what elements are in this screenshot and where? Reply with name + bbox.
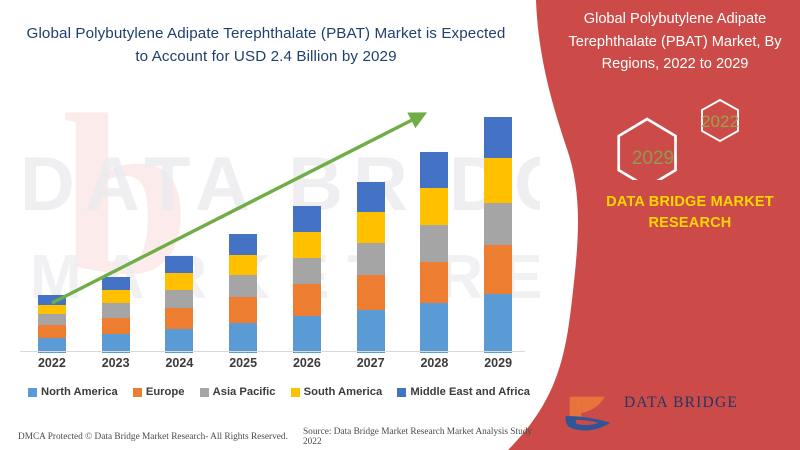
legend-item-4[interactable]: Middle East and Africa — [397, 386, 530, 398]
bar-segment-2027-0 — [357, 310, 385, 353]
bar-segment-2023-4 — [102, 277, 130, 290]
bar-2029 — [484, 117, 512, 353]
bar-segment-2027-2 — [357, 243, 385, 275]
bar-segment-2024-4 — [165, 256, 193, 273]
bar-2022 — [38, 295, 66, 353]
bar-segment-2028-1 — [420, 262, 448, 303]
legend-swatch-icon-2 — [200, 388, 209, 397]
legend-label-3: South America — [304, 386, 383, 398]
bar-segment-2027-1 — [357, 275, 385, 310]
bar-segment-2024-0 — [165, 329, 193, 353]
bar-segment-2025-0 — [229, 323, 257, 353]
data-bridge-logo: DATA BRIDGE MARKET RESEARCH — [562, 392, 742, 438]
bar-segment-2028-0 — [420, 303, 448, 353]
page-title: Global Polybutylene Adipate Terephthalat… — [26, 22, 506, 68]
bar-segment-2026-4 — [293, 206, 321, 232]
bar-segment-2022-4 — [38, 295, 66, 304]
logo-sub-text: MARKET RESEARCH — [624, 414, 764, 421]
bar-segment-2029-1 — [484, 245, 512, 293]
bar-2025 — [229, 234, 257, 353]
legend-label-4: Middle East and Africa — [410, 386, 530, 398]
footer-copyright: DMCA Protected © Data Bridge Market Rese… — [18, 432, 303, 442]
legend-swatch-icon-0 — [28, 388, 37, 397]
hexagon-2022-label: 2022 — [686, 112, 754, 132]
bar-segment-2025-4 — [229, 234, 257, 254]
bar-segment-2022-2 — [38, 314, 66, 325]
bar-2027 — [357, 182, 385, 353]
bar-segment-2028-4 — [420, 152, 448, 187]
bar-segment-2022-1 — [38, 325, 66, 338]
legend-item-0[interactable]: North America — [28, 386, 118, 398]
legend-swatch-icon-1 — [133, 388, 142, 397]
chart-legend: North AmericaEuropeAsia PacificSouth Ame… — [24, 386, 534, 398]
x-axis-label-2023: 2023 — [86, 356, 146, 370]
bar-segment-2025-1 — [229, 297, 257, 323]
legend-label-1: Europe — [146, 386, 185, 398]
legend-swatch-icon-4 — [397, 388, 406, 397]
bar-segment-2029-2 — [484, 203, 512, 246]
bar-segment-2029-4 — [484, 117, 512, 158]
infographic-canvas: b DATA BRIDGE MARKET RESEARCH Global Pol… — [0, 0, 800, 450]
bar-segment-2024-1 — [165, 308, 193, 328]
legend-swatch-icon-3 — [291, 388, 300, 397]
x-axis-label-2024: 2024 — [149, 356, 209, 370]
bar-segment-2026-0 — [293, 316, 321, 353]
bar-segment-2025-2 — [229, 275, 257, 297]
panel-brand-line-2: RESEARCH — [586, 213, 794, 234]
x-axis-label-2026: 2026 — [277, 356, 337, 370]
bar-segment-2026-2 — [293, 258, 321, 284]
panel-brand-name: DATA BRIDGE MARKET RESEARCH — [586, 192, 794, 233]
x-axis-label-2029: 2029 — [468, 356, 528, 370]
bar-segment-2029-3 — [484, 158, 512, 203]
hexagon-badges: 2029 2022 — [596, 92, 776, 180]
legend-item-1[interactable]: Europe — [133, 386, 185, 398]
bar-segment-2024-2 — [165, 290, 193, 309]
bar-2026 — [293, 206, 321, 353]
bar-segment-2029-0 — [484, 294, 512, 353]
data-bridge-logo-text: DATA BRIDGE MARKET RESEARCH — [624, 394, 764, 421]
bar-segment-2023-1 — [102, 318, 130, 335]
footer: DMCA Protected © Data Bridge Market Rese… — [18, 428, 538, 446]
bar-segment-2025-3 — [229, 255, 257, 275]
legend-label-0: North America — [41, 386, 118, 398]
legend-item-2[interactable]: Asia Pacific — [200, 386, 276, 398]
panel-brand-line-1: DATA BRIDGE MARKET — [586, 192, 794, 213]
legend-item-3[interactable]: South America — [291, 386, 383, 398]
x-axis-label-2025: 2025 — [213, 356, 273, 370]
bar-segment-2022-3 — [38, 305, 66, 314]
bar-segment-2024-3 — [165, 273, 193, 290]
bar-2024 — [165, 256, 193, 353]
bar-2023 — [102, 277, 130, 353]
bar-2028 — [420, 152, 448, 353]
footer-source: Source: Data Bridge Market Research Mark… — [303, 427, 538, 447]
bar-segment-2026-3 — [293, 232, 321, 258]
bar-segment-2027-3 — [357, 212, 385, 244]
chart-axis-line — [20, 351, 525, 352]
bar-segment-2028-2 — [420, 225, 448, 262]
stacked-bar-chart — [20, 95, 530, 353]
x-axis-label-2022: 2022 — [22, 356, 82, 370]
legend-label-2: Asia Pacific — [213, 386, 276, 398]
panel-title: Global Polybutylene Adipate Terephthalat… — [556, 8, 794, 76]
x-axis-label-2028: 2028 — [404, 356, 464, 370]
data-bridge-b-mark-icon — [562, 392, 620, 438]
x-axis-label-2027: 2027 — [341, 356, 401, 370]
bar-segment-2023-2 — [102, 303, 130, 318]
hexagon-2029-label: 2029 — [614, 148, 692, 170]
bar-segment-2023-3 — [102, 290, 130, 303]
bar-segment-2027-4 — [357, 182, 385, 212]
logo-main-text: DATA BRIDGE — [624, 394, 764, 411]
chart-x-axis-labels: 20222023202420252026202720282029 — [20, 356, 530, 376]
bar-segment-2026-1 — [293, 284, 321, 316]
bar-segment-2028-3 — [420, 188, 448, 225]
